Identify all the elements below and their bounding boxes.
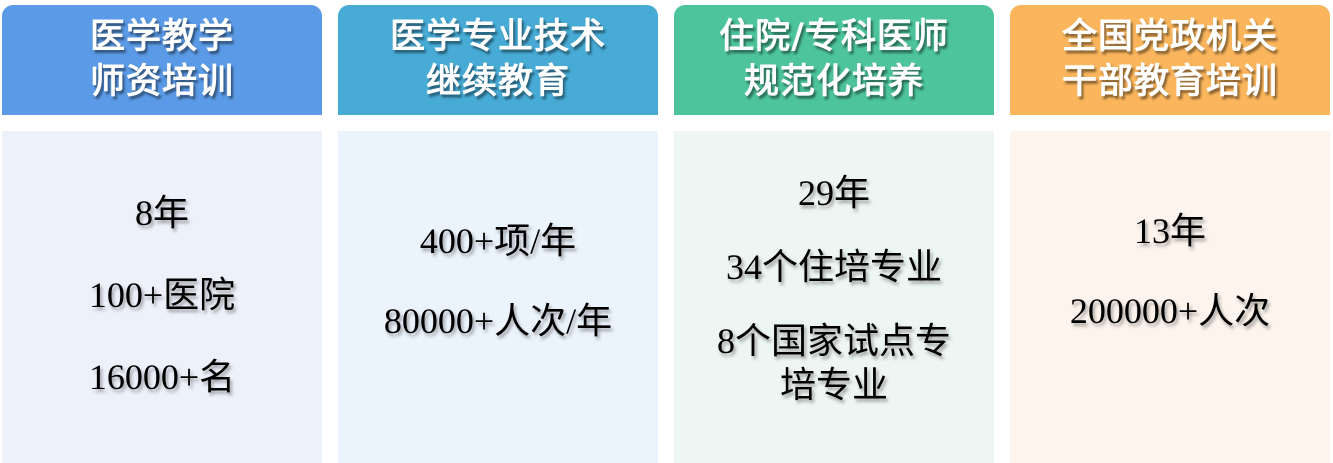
card-body-1: 8年 100+医院 16000+名	[2, 131, 322, 463]
card-stat-item: 34个住培专业	[726, 245, 942, 289]
card-stat-item: 8年	[135, 191, 189, 235]
card-national-party-government-cadre-education[interactable]: 全国党政机关 干部教育培训 13年 200000+人次	[1010, 5, 1330, 463]
card-divider-2	[338, 115, 658, 131]
card-title-2: 医学专业技术 继续教育	[390, 15, 606, 105]
card-header-4: 全国党政机关 干部教育培训	[1010, 5, 1330, 115]
card-stat-item: 13年	[1134, 209, 1206, 253]
card-resident-specialist-standardized-training[interactable]: 住院/专科医师 规范化培养 29年 34个住培专业 8个国家试点专 培专业	[674, 5, 994, 463]
card-stat-item: 80000+人次/年	[384, 299, 612, 343]
card-body-4: 13年 200000+人次	[1010, 131, 1330, 463]
card-title-3: 住院/专科医师 规范化培养	[719, 15, 949, 105]
card-stat-item: 400+项/年	[420, 219, 576, 263]
card-title-1: 医学教学 师资培训	[90, 15, 234, 105]
card-stat-item: 16000+名	[89, 355, 235, 399]
card-stat-item: 29年	[798, 171, 870, 215]
stat-cards-board: 医学教学 师资培训 8年 100+医院 16000+名 医学专业技术 继续教育 …	[0, 0, 1333, 463]
card-header-3: 住院/专科医师 规范化培养	[674, 5, 994, 115]
card-header-1: 医学教学 师资培训	[2, 5, 322, 115]
card-divider-3	[674, 115, 994, 131]
card-stat-item: 8个国家试点专 培专业	[717, 319, 951, 407]
card-divider-4	[1010, 115, 1330, 131]
card-divider-1	[2, 115, 322, 131]
card-header-2: 医学专业技术 继续教育	[338, 5, 658, 115]
card-body-2: 400+项/年 80000+人次/年	[338, 131, 658, 463]
card-medical-teaching-faculty-training[interactable]: 医学教学 师资培训 8年 100+医院 16000+名	[2, 5, 322, 463]
card-title-4: 全国党政机关 干部教育培训	[1062, 15, 1278, 105]
card-stat-item: 100+医院	[89, 273, 235, 317]
card-body-3: 29年 34个住培专业 8个国家试点专 培专业	[674, 131, 994, 463]
card-stat-item: 200000+人次	[1070, 289, 1270, 333]
card-medical-professional-continuing-education[interactable]: 医学专业技术 继续教育 400+项/年 80000+人次/年	[338, 5, 658, 463]
